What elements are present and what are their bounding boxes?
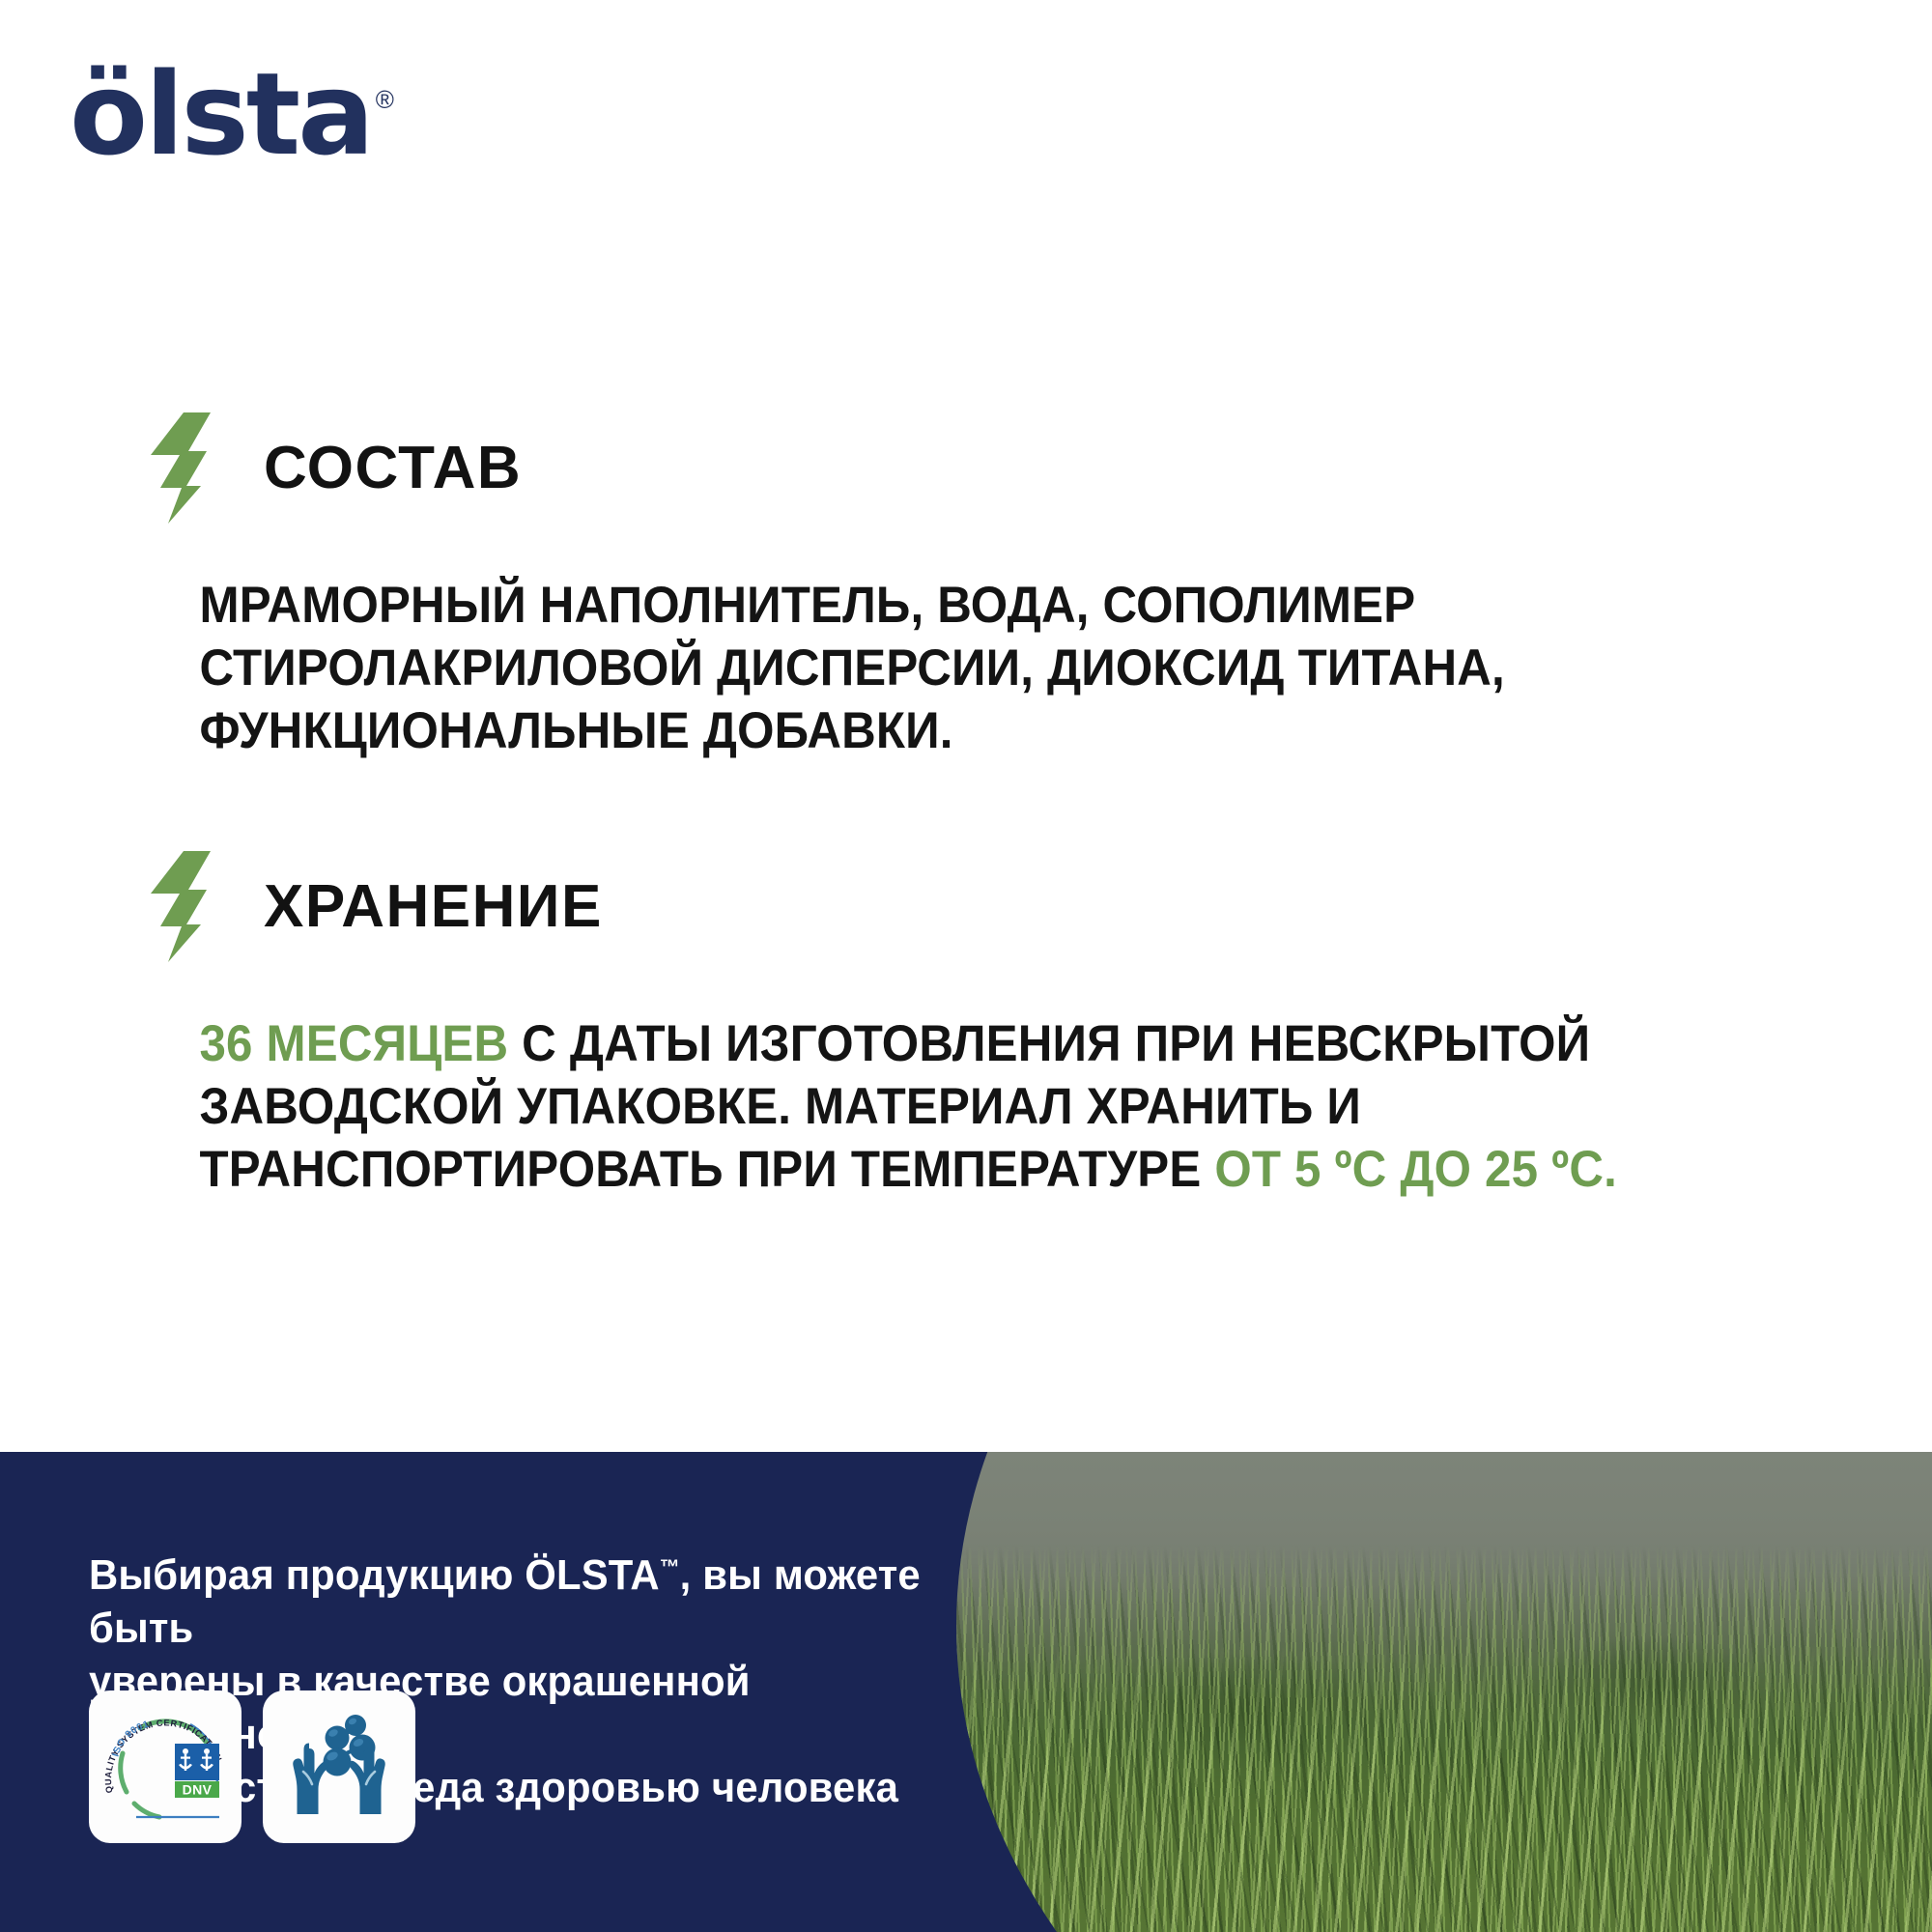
iso-9001-dnv-certification-badge: QUALITY SYSTEM CERTIFICATION ISO 9001 bbox=[89, 1690, 241, 1843]
footer-statement-part1: Выбирая продукцию ÖLSTA bbox=[89, 1551, 660, 1599]
composition-text: МРАМОРНЫЙ НАПОЛНИТЕЛЬ, ВОДА, СОПОЛИМЕР С… bbox=[199, 577, 1504, 759]
photo-grass-foreground-layer bbox=[956, 1642, 1932, 1932]
brand-logo-text: ölsta bbox=[70, 60, 372, 168]
section-storage-title: ХРАНЕНИЕ bbox=[264, 872, 603, 941]
section-composition: СОСТАВ МРАМОРНЫЙ НАПОЛНИТЕЛЬ, ВОДА, СОПО… bbox=[0, 404, 1932, 763]
section-composition-body: МРАМОРНЫЙ НАПОЛНИТЕЛЬ, ВОДА, СОПОЛИМЕР С… bbox=[0, 574, 1797, 763]
certification-badges: QUALITY SYSTEM CERTIFICATION ISO 9001 bbox=[89, 1690, 415, 1843]
trademark-icon: ™ bbox=[660, 1554, 680, 1578]
safe-for-health-hands-molecule-badge bbox=[263, 1690, 415, 1843]
section-composition-header: СОСТАВ bbox=[0, 404, 1932, 531]
storage-duration: 36 МЕСЯЦЕВ bbox=[199, 1015, 508, 1072]
section-storage-header: ХРАНЕНИЕ bbox=[0, 842, 1932, 970]
storage-temperature-range: ОТ 5 ºС ДО 25 ºС. bbox=[1214, 1141, 1617, 1198]
svg-text:DNV: DNV bbox=[183, 1782, 213, 1798]
section-composition-title: СОСТАВ bbox=[264, 434, 522, 502]
lightning-bolt-icon bbox=[143, 412, 211, 524]
registered-trademark-icon: ® bbox=[376, 85, 394, 115]
section-storage: ХРАНЕНИЕ 36 МЕСЯЦЕВ С ДАТЫ ИЗГОТОВЛЕНИЯ … bbox=[0, 842, 1932, 1202]
section-storage-body: 36 МЕСЯЦЕВ С ДАТЫ ИЗГОТОВЛЕНИЯ ПРИ НЕВСК… bbox=[0, 1012, 1797, 1202]
iso-9001-dnv-logo-icon: QUALITY SYSTEM CERTIFICATION ISO 9001 bbox=[98, 1699, 233, 1834]
product-info-page: ölsta ® СОСТАВ МРАМОРНЫЙ НАПОЛНИТЕЛЬ, ВО… bbox=[0, 0, 1932, 1932]
footer-banner: Выбирая продукцию ÖLSTA™, вы можете быть… bbox=[0, 1452, 1932, 1932]
hands-holding-molecule-icon bbox=[280, 1708, 398, 1826]
brand-logo: ölsta ® bbox=[70, 60, 394, 168]
lightning-bolt-icon bbox=[143, 851, 211, 962]
svg-text:ISO 9001: ISO 9001 bbox=[110, 1719, 150, 1758]
grass-meadow-photo bbox=[956, 1452, 1932, 1932]
